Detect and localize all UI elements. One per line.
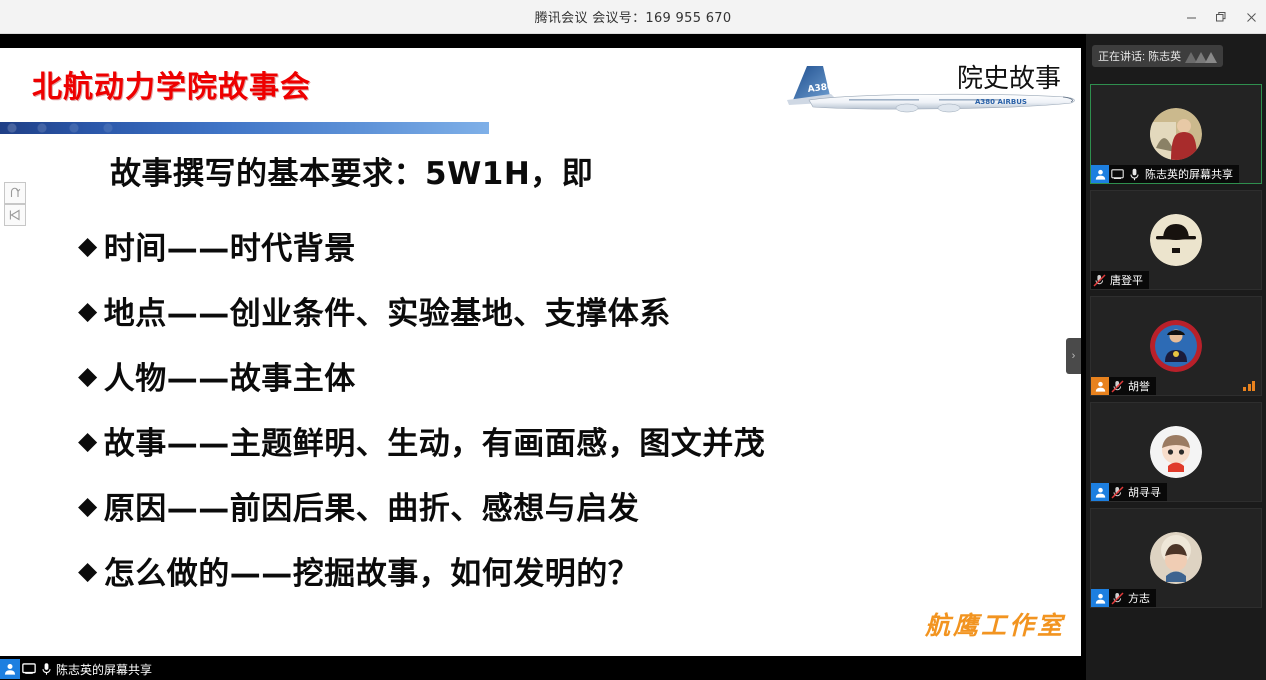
shared-screen-slide[interactable]: 北航动力学院故事会 (0, 48, 1081, 656)
person-icon (1091, 483, 1109, 501)
slide-bullet-text: 怎么做的——挖掘故事，如何发明的？ (104, 548, 640, 593)
slide-banner: A380 A380 AIRBUS (779, 48, 1081, 143)
participant-tile[interactable]: 方志 (1090, 508, 1262, 608)
bullet-marker-icon: ◆ (78, 233, 98, 258)
slide-heading: 故事撰写的基本要求：5W1H，即 (110, 148, 1081, 193)
participant-name: 胡誉 (1126, 378, 1156, 394)
bullet-marker-icon: ◆ (78, 298, 98, 323)
slide-watermark: 航鹰工作室 (925, 606, 1065, 642)
participant-tile[interactable]: 唐登平 (1090, 190, 1262, 290)
screen-share-icon (1109, 165, 1126, 183)
slide-title: 北航动力学院故事会 (32, 62, 311, 106)
microphone-muted-icon (1109, 483, 1126, 501)
audio-wave-icon (1185, 50, 1217, 63)
person-icon (1091, 377, 1109, 395)
chevron-right-icon: › (1072, 350, 1076, 362)
share-status-text: 陈志英的屏幕共享 (54, 661, 152, 678)
participant-tile[interactable]: 陈志英的屏幕共享 (1090, 84, 1262, 184)
tile-footer: 陈志英的屏幕共享 (1091, 165, 1239, 183)
close-button[interactable] (1236, 0, 1266, 34)
avatar (1150, 426, 1202, 478)
network-signal-icon (1243, 381, 1255, 391)
participant-tile[interactable]: 胡寻寻 (1090, 402, 1262, 502)
share-status-bar: 陈志英的屏幕共享 (0, 658, 1086, 680)
slide-bullet-text: 人物——故事主体 (104, 353, 356, 398)
bullet-marker-icon: ◆ (78, 363, 98, 388)
microphone-muted-icon (1109, 377, 1126, 395)
bullet-marker-icon: ◆ (78, 558, 98, 583)
participant-name: 方志 (1126, 590, 1156, 606)
meeting-window: 腾讯会议 会议号：169 955 670 北航动力学院故事会 (0, 0, 1266, 680)
microphone-muted-icon (1109, 589, 1126, 607)
active-speaker-label: 正在讲话: 陈志英 (1098, 48, 1181, 64)
restore-button[interactable] (1206, 0, 1236, 34)
slide-bullet-text: 原因——前因后果、曲折、感想与启发 (104, 483, 640, 528)
window-titlebar: 腾讯会议 会议号：169 955 670 (0, 0, 1266, 34)
participant-rail: 正在讲话: 陈志英 (1086, 34, 1266, 680)
participant-name: 胡寻寻 (1126, 484, 1167, 500)
avatar (1150, 320, 1202, 372)
microphone-icon (1126, 165, 1143, 183)
slide-bullet: ◆ 人物——故事主体 (78, 343, 1081, 408)
microphone-muted-icon (1091, 271, 1108, 289)
collapse-panel-handle[interactable]: › (1066, 338, 1081, 374)
slide-bullet-text: 故事——主题鲜明、生动，有画面感，图文并茂 (104, 418, 766, 463)
tile-footer: 胡誉 (1091, 377, 1156, 395)
slide-accent-bar (0, 122, 489, 134)
participant-name: 唐登平 (1108, 272, 1149, 288)
svg-text:A380 AIRBUS: A380 AIRBUS (975, 98, 1027, 106)
avatar (1150, 214, 1202, 266)
active-speaker-badge: 正在讲话: 陈志英 (1092, 45, 1223, 67)
slide-bullet: ◆ 故事——主题鲜明、生动，有画面感，图文并茂 (78, 408, 1081, 473)
slide-bullet: ◆ 原因——前因后果、曲折、感想与启发 (78, 473, 1081, 538)
screen-share-icon (20, 659, 38, 679)
tile-footer: 方志 (1091, 589, 1156, 607)
avatar (1150, 108, 1202, 160)
window-title: 腾讯会议 会议号：169 955 670 (535, 7, 732, 26)
participant-tile[interactable]: 胡誉 (1090, 296, 1262, 396)
participant-name: 陈志英的屏幕共享 (1143, 166, 1239, 182)
slide-banner-label: 院史故事 (957, 58, 1061, 95)
tile-footer: 唐登平 (1091, 271, 1149, 289)
person-icon (0, 659, 20, 679)
meeting-stage: 北航动力学院故事会 (0, 34, 1266, 680)
microphone-icon (38, 659, 54, 679)
slide-bullet: ◆ 怎么做的——挖掘故事，如何发明的？ (78, 538, 1081, 603)
slide-bullet-text: 地点——创业条件、实验基地、支撑体系 (104, 288, 671, 333)
person-icon (1091, 589, 1109, 607)
avatar (1150, 532, 1202, 584)
minimize-button[interactable] (1176, 0, 1206, 34)
bullet-marker-icon: ◆ (78, 493, 98, 518)
person-icon (1091, 165, 1109, 183)
svg-text:A380: A380 (807, 82, 834, 95)
slide-bullet-text: 时间——时代背景 (104, 223, 356, 268)
slide-bullet: ◆ 时间——时代背景 (78, 213, 1081, 278)
slide-bullet: ◆ 地点——创业条件、实验基地、支撑体系 (78, 278, 1081, 343)
tile-footer: 胡寻寻 (1091, 483, 1167, 501)
bullet-marker-icon: ◆ (78, 428, 98, 453)
slide-body: 故事撰写的基本要求：5W1H，即 ◆ 时间——时代背景 ◆ 地点——创业条件、实… (0, 148, 1081, 603)
window-controls (1176, 0, 1266, 34)
